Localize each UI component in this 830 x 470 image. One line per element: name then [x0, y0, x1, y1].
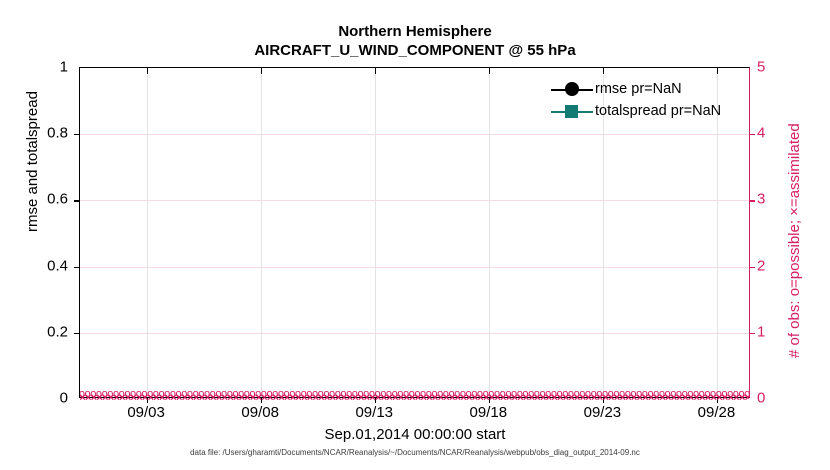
obs-assimilated-marker: ×	[222, 393, 228, 404]
y-axis-right-tick	[749, 134, 755, 135]
obs-assimilated-marker: ×	[568, 393, 574, 404]
y-axis-right-tick-label: 3	[757, 191, 765, 208]
obs-assimilated-marker: ×	[625, 393, 631, 404]
x-axis-tick-label: 09/23	[584, 404, 622, 421]
obs-assimilated-marker: ×	[80, 393, 86, 404]
obs-assimilated-marker: ×	[540, 393, 546, 404]
obs-possible-marker: o	[557, 389, 563, 400]
obs-possible-marker: o	[392, 389, 398, 400]
obs-assimilated-marker: ×	[688, 393, 694, 404]
chart-title-line1: Northern Hemisphere	[0, 22, 830, 41]
obs-possible-marker: o	[170, 389, 176, 400]
obs-possible-marker: o	[193, 389, 199, 400]
obs-possible-marker: o	[545, 389, 551, 400]
obs-assimilated-marker: ×	[131, 393, 137, 404]
obs-assimilated-marker: ×	[745, 393, 749, 404]
x-axis-tick	[261, 397, 262, 403]
obs-possible-marker: o	[90, 389, 96, 400]
obs-assimilated-marker: ×	[631, 393, 637, 404]
obs-possible-marker: o	[539, 389, 545, 400]
obs-possible-marker: o	[403, 389, 409, 400]
obs-assimilated-marker: ×	[193, 393, 199, 404]
x-axis-tick-top	[147, 68, 148, 74]
obs-possible-marker: o	[187, 389, 193, 400]
obs-assimilated-marker: ×	[381, 393, 387, 404]
obs-possible-marker: o	[107, 389, 113, 400]
obs-possible-marker: o	[437, 389, 443, 400]
obs-assimilated-marker: ×	[301, 393, 307, 404]
obs-assimilated-marker: ×	[244, 393, 250, 404]
obs-possible-marker: o	[363, 389, 369, 400]
obs-possible-marker: o	[386, 389, 392, 400]
gridline-vertical	[147, 68, 148, 397]
obs-possible-marker: o	[665, 389, 671, 400]
obs-assimilated-marker: ×	[466, 393, 472, 404]
obs-possible-marker: o	[517, 389, 523, 400]
y-axis-left-tick-label: 0.2	[47, 323, 68, 340]
obs-possible-marker: o	[443, 389, 449, 400]
x-axis-tick	[717, 397, 718, 403]
obs-possible-marker: o	[198, 389, 204, 400]
obs-possible-marker: o	[335, 389, 341, 400]
obs-assimilated-marker: ×	[165, 393, 171, 404]
obs-assimilated-marker: ×	[403, 393, 409, 404]
obs-assimilated-marker: ×	[637, 393, 643, 404]
obs-possible-marker: o	[380, 389, 386, 400]
y-axis-left-tick-label: 0	[60, 390, 68, 407]
obs-possible-marker: o	[130, 389, 136, 400]
gridline-vertical	[489, 68, 490, 397]
x-axis-title: Sep.01,2014 00:00:00 start	[0, 426, 830, 443]
obs-possible-marker: o	[636, 389, 642, 400]
obs-assimilated-marker: ×	[512, 393, 518, 404]
obs-assimilated-marker: ×	[182, 393, 188, 404]
obs-possible-marker: o	[608, 389, 614, 400]
obs-possible-marker: o	[352, 389, 358, 400]
x-axis-tick-top	[717, 68, 718, 74]
obs-possible-marker: o	[113, 389, 119, 400]
obs-assimilated-marker: ×	[659, 393, 665, 404]
obs-possible-marker: o	[687, 389, 693, 400]
obs-assimilated-marker: ×	[278, 393, 284, 404]
x-axis-tick-top	[261, 68, 262, 74]
obs-possible-marker: o	[312, 389, 318, 400]
obs-possible-marker: o	[221, 389, 227, 400]
obs-possible-marker: o	[693, 389, 699, 400]
obs-possible-marker: o	[289, 389, 295, 400]
obs-possible-marker: o	[682, 389, 688, 400]
obs-possible-marker: o	[164, 389, 170, 400]
obs-assimilated-marker: ×	[267, 393, 273, 404]
obs-possible-marker: o	[483, 389, 489, 400]
y-axis-left-tick	[74, 200, 80, 201]
chart-legend: rmse pr=NaN totalspread pr=NaN	[551, 78, 741, 122]
obs-assimilated-marker: ×	[614, 393, 620, 404]
obs-assimilated-marker: ×	[250, 393, 256, 404]
gridline-horizontal	[80, 333, 749, 334]
x-axis-tick-label: 09/18	[470, 404, 508, 421]
obs-possible-marker: o	[369, 389, 375, 400]
obs-assimilated-marker: ×	[438, 393, 444, 404]
x-axis-tick	[603, 397, 604, 403]
obs-assimilated-marker: ×	[494, 393, 500, 404]
obs-possible-marker: o	[505, 389, 511, 400]
obs-assimilated-marker: ×	[290, 393, 296, 404]
obs-possible-marker: o	[119, 389, 125, 400]
y-axis-right-tick	[749, 267, 755, 268]
obs-possible-marker: o	[232, 389, 238, 400]
x-axis-tick-label: 09/03	[127, 404, 165, 421]
y-axis-right-title: # of obs: o=possible; ×=assimilated	[786, 123, 803, 358]
obs-possible-marker: o	[585, 389, 591, 400]
obs-assimilated-marker: ×	[199, 393, 205, 404]
x-axis-tick	[489, 397, 490, 403]
obs-possible-marker: o	[511, 389, 517, 400]
obs-assimilated-marker: ×	[665, 393, 671, 404]
obs-assimilated-marker: ×	[574, 393, 580, 404]
x-axis-tick-label: 09/08	[241, 404, 279, 421]
obs-assimilated-marker: ×	[534, 393, 540, 404]
obs-possible-marker: o	[596, 389, 602, 400]
obs-possible-marker: o	[340, 389, 346, 400]
obs-assimilated-marker: ×	[472, 393, 478, 404]
obs-assimilated-marker: ×	[187, 393, 193, 404]
y-axis-left-tick-label: 0.6	[47, 191, 68, 208]
x-axis-tick-label: 09/13	[355, 404, 393, 421]
obs-possible-marker: o	[522, 389, 528, 400]
x-axis-tick	[375, 397, 376, 403]
obs-assimilated-marker: ×	[608, 393, 614, 404]
obs-possible-marker: o	[534, 389, 540, 400]
obs-assimilated-marker: ×	[733, 393, 739, 404]
obs-possible-marker: o	[284, 389, 290, 400]
obs-possible-marker: o	[613, 389, 619, 400]
obs-possible-marker: o	[466, 389, 472, 400]
x-axis-tick-top	[603, 68, 604, 74]
obs-possible-marker: o	[414, 389, 420, 400]
obs-assimilated-marker: ×	[705, 393, 711, 404]
x-axis-tick	[147, 397, 148, 403]
obs-assimilated-marker: ×	[170, 393, 176, 404]
obs-possible-marker: o	[500, 389, 506, 400]
obs-assimilated-marker: ×	[341, 393, 347, 404]
obs-assimilated-marker: ×	[642, 393, 648, 404]
obs-assimilated-marker: ×	[108, 393, 114, 404]
obs-assimilated-marker: ×	[654, 393, 660, 404]
obs-assimilated-marker: ×	[159, 393, 165, 404]
obs-possible-marker: o	[551, 389, 557, 400]
obs-possible-marker: o	[266, 389, 272, 400]
obs-assimilated-marker: ×	[204, 393, 210, 404]
gridline-horizontal	[80, 134, 749, 135]
y-axis-right-tick-label: 5	[757, 59, 765, 76]
obs-assimilated-marker: ×	[113, 393, 119, 404]
gridline-vertical	[261, 68, 262, 397]
obs-assimilated-marker: ×	[460, 393, 466, 404]
obs-possible-marker: o	[721, 389, 727, 400]
obs-possible-marker: o	[158, 389, 164, 400]
obs-possible-marker: o	[579, 389, 585, 400]
obs-assimilated-marker: ×	[557, 393, 563, 404]
obs-possible-marker: o	[176, 389, 182, 400]
obs-assimilated-marker: ×	[210, 393, 216, 404]
obs-possible-marker: o	[670, 389, 676, 400]
gridline-vertical	[375, 68, 376, 397]
obs-assimilated-marker: ×	[682, 393, 688, 404]
obs-assimilated-marker: ×	[119, 393, 125, 404]
obs-assimilated-marker: ×	[585, 393, 591, 404]
obs-assimilated-marker: ×	[153, 393, 159, 404]
obs-assimilated-marker: ×	[432, 393, 438, 404]
obs-possible-marker: o	[477, 389, 483, 400]
obs-possible-marker: o	[647, 389, 653, 400]
obs-assimilated-marker: ×	[671, 393, 677, 404]
obs-assimilated-marker: ×	[125, 393, 131, 404]
obs-possible-marker: o	[568, 389, 574, 400]
obs-possible-marker: o	[215, 389, 221, 400]
obs-assimilated-marker: ×	[523, 393, 529, 404]
obs-possible-marker: o	[102, 389, 108, 400]
obs-possible-marker: o	[295, 389, 301, 400]
obs-assimilated-marker: ×	[233, 393, 239, 404]
obs-assimilated-marker: ×	[352, 393, 358, 404]
obs-assimilated-marker: ×	[358, 393, 364, 404]
obs-assimilated-marker: ×	[398, 393, 404, 404]
obs-assimilated-marker: ×	[392, 393, 398, 404]
obs-possible-marker: o	[676, 389, 682, 400]
obs-assimilated-marker: ×	[318, 393, 324, 404]
legend-sample-rmse	[551, 79, 593, 99]
y-axis-right-tick	[749, 200, 755, 201]
obs-assimilated-marker: ×	[517, 393, 523, 404]
obs-possible-marker: o	[562, 389, 568, 400]
obs-possible-marker: o	[699, 389, 705, 400]
obs-possible-marker: o	[710, 389, 716, 400]
obs-assimilated-marker: ×	[216, 393, 222, 404]
y-axis-right-tick	[749, 333, 755, 334]
obs-possible-marker: o	[619, 389, 625, 400]
gridline-horizontal	[80, 267, 749, 268]
obs-assimilated-marker: ×	[551, 393, 557, 404]
obs-possible-marker: o	[454, 389, 460, 400]
observation-marker-band: o×o×o×o×o×o×o×o×o×o×o×o×o×o×o×o×o×o×o×o×…	[80, 389, 749, 404]
obs-assimilated-marker: ×	[443, 393, 449, 404]
y-axis-right-tick-label: 2	[757, 257, 765, 274]
y-axis-left-tick	[74, 333, 80, 334]
obs-possible-marker: o	[227, 389, 233, 400]
legend-sample-totalspread	[551, 101, 593, 121]
obs-assimilated-marker: ×	[261, 393, 267, 404]
obs-assimilated-marker: ×	[648, 393, 654, 404]
obs-assimilated-marker: ×	[722, 393, 728, 404]
obs-assimilated-marker: ×	[386, 393, 392, 404]
obs-assimilated-marker: ×	[312, 393, 318, 404]
obs-assimilated-marker: ×	[693, 393, 699, 404]
obs-assimilated-marker: ×	[284, 393, 290, 404]
legend-label-rmse: rmse pr=NaN	[593, 81, 682, 97]
obs-assimilated-marker: ×	[148, 393, 154, 404]
legend-item-rmse[interactable]: rmse pr=NaN	[551, 78, 741, 100]
obs-possible-marker: o	[204, 389, 210, 400]
obs-assimilated-marker: ×	[347, 393, 353, 404]
obs-assimilated-marker: ×	[421, 393, 427, 404]
obs-assimilated-marker: ×	[529, 393, 535, 404]
obs-possible-marker: o	[704, 389, 710, 400]
obs-possible-marker: o	[181, 389, 187, 400]
obs-assimilated-marker: ×	[620, 393, 626, 404]
y-axis-right-tick-label: 4	[757, 125, 765, 142]
gridline-horizontal	[80, 200, 749, 201]
obs-assimilated-marker: ×	[728, 393, 734, 404]
obs-assimilated-marker: ×	[91, 393, 97, 404]
obs-possible-marker: o	[420, 389, 426, 400]
obs-possible-marker: o	[733, 389, 739, 400]
obs-assimilated-marker: ×	[415, 393, 421, 404]
obs-assimilated-marker: ×	[699, 393, 705, 404]
obs-possible-marker: o	[738, 389, 744, 400]
obs-possible-marker: o	[357, 389, 363, 400]
obs-possible-marker: o	[744, 389, 749, 400]
obs-assimilated-marker: ×	[136, 393, 142, 404]
obs-assimilated-marker: ×	[676, 393, 682, 404]
obs-possible-marker: o	[238, 389, 244, 400]
obs-assimilated-marker: ×	[239, 393, 245, 404]
y-axis-left-tick	[74, 267, 80, 268]
obs-assimilated-marker: ×	[506, 393, 512, 404]
obs-assimilated-marker: ×	[477, 393, 483, 404]
obs-possible-marker: o	[528, 389, 534, 400]
obs-assimilated-marker: ×	[455, 393, 461, 404]
obs-assimilated-marker: ×	[364, 393, 370, 404]
data-file-caption: data file: /Users/gharamti/Documents/NCA…	[0, 448, 830, 457]
obs-assimilated-marker: ×	[330, 393, 336, 404]
obs-assimilated-marker: ×	[597, 393, 603, 404]
obs-possible-marker: o	[318, 389, 324, 400]
legend-item-totalspread[interactable]: totalspread pr=NaN	[551, 100, 741, 122]
y-axis-left-title: rmse and totalspread	[24, 91, 41, 232]
obs-assimilated-marker: ×	[335, 393, 341, 404]
chart-title-block: Northern Hemisphere AIRCRAFT_U_WIND_COMP…	[0, 22, 830, 60]
obs-assimilated-marker: ×	[739, 393, 745, 404]
obs-possible-marker: o	[653, 389, 659, 400]
obs-possible-marker: o	[272, 389, 278, 400]
obs-possible-marker: o	[329, 389, 335, 400]
y-axis-left-tick	[74, 134, 80, 135]
obs-possible-marker: o	[346, 389, 352, 400]
x-axis-tick-top	[375, 68, 376, 74]
obs-assimilated-marker: ×	[546, 393, 552, 404]
obs-assimilated-marker: ×	[273, 393, 279, 404]
y-axis-right-tick-label: 0	[757, 390, 765, 407]
obs-possible-marker: o	[591, 389, 597, 400]
obs-assimilated-marker: ×	[295, 393, 301, 404]
x-axis-tick-label: 09/28	[698, 404, 736, 421]
circle-marker-icon	[565, 82, 579, 96]
obs-possible-marker: o	[409, 389, 415, 400]
obs-assimilated-marker: ×	[176, 393, 182, 404]
obs-assimilated-marker: ×	[324, 393, 330, 404]
obs-possible-marker: o	[431, 389, 437, 400]
obs-possible-marker: o	[278, 389, 284, 400]
obs-assimilated-marker: ×	[85, 393, 91, 404]
obs-possible-marker: o	[96, 389, 102, 400]
obs-assimilated-marker: ×	[426, 393, 432, 404]
obs-possible-marker: o	[727, 389, 733, 400]
chart-title-line2: AIRCRAFT_U_WIND_COMPONENT @ 55 hPa	[0, 41, 830, 60]
obs-possible-marker: o	[85, 389, 91, 400]
legend-label-totalspread: totalspread pr=NaN	[593, 103, 721, 119]
obs-possible-marker: o	[124, 389, 130, 400]
obs-possible-marker: o	[249, 389, 255, 400]
obs-possible-marker: o	[460, 389, 466, 400]
obs-possible-marker: o	[494, 389, 500, 400]
obs-possible-marker: o	[471, 389, 477, 400]
obs-assimilated-marker: ×	[580, 393, 586, 404]
obs-possible-marker: o	[153, 389, 159, 400]
obs-possible-marker: o	[80, 389, 85, 400]
square-marker-icon	[565, 105, 578, 118]
y-axis-left-tick-label: 0.4	[47, 257, 68, 274]
obs-assimilated-marker: ×	[227, 393, 233, 404]
obs-possible-marker: o	[323, 389, 329, 400]
obs-possible-marker: o	[210, 389, 216, 400]
obs-possible-marker: o	[642, 389, 648, 400]
obs-assimilated-marker: ×	[711, 393, 717, 404]
obs-possible-marker: o	[659, 389, 665, 400]
obs-possible-marker: o	[630, 389, 636, 400]
obs-assimilated-marker: ×	[96, 393, 102, 404]
obs-assimilated-marker: ×	[591, 393, 597, 404]
y-axis-right-tick-label: 1	[757, 323, 765, 340]
x-axis-tick-top	[489, 68, 490, 74]
obs-possible-marker: o	[574, 389, 580, 400]
obs-possible-marker: o	[448, 389, 454, 400]
obs-possible-marker: o	[426, 389, 432, 400]
figure-canvas: Northern Hemisphere AIRCRAFT_U_WIND_COMP…	[0, 0, 830, 470]
obs-assimilated-marker: ×	[409, 393, 415, 404]
obs-possible-marker: o	[136, 389, 142, 400]
obs-possible-marker: o	[301, 389, 307, 400]
obs-possible-marker: o	[244, 389, 250, 400]
obs-assimilated-marker: ×	[102, 393, 108, 404]
obs-assimilated-marker: ×	[307, 393, 313, 404]
y-axis-left-tick-label: 1	[60, 59, 68, 76]
obs-assimilated-marker: ×	[500, 393, 506, 404]
obs-assimilated-marker: ×	[449, 393, 455, 404]
obs-assimilated-marker: ×	[563, 393, 569, 404]
obs-possible-marker: o	[306, 389, 312, 400]
obs-possible-marker: o	[397, 389, 403, 400]
y-axis-left-tick-label: 0.8	[47, 125, 68, 142]
obs-possible-marker: o	[625, 389, 631, 400]
